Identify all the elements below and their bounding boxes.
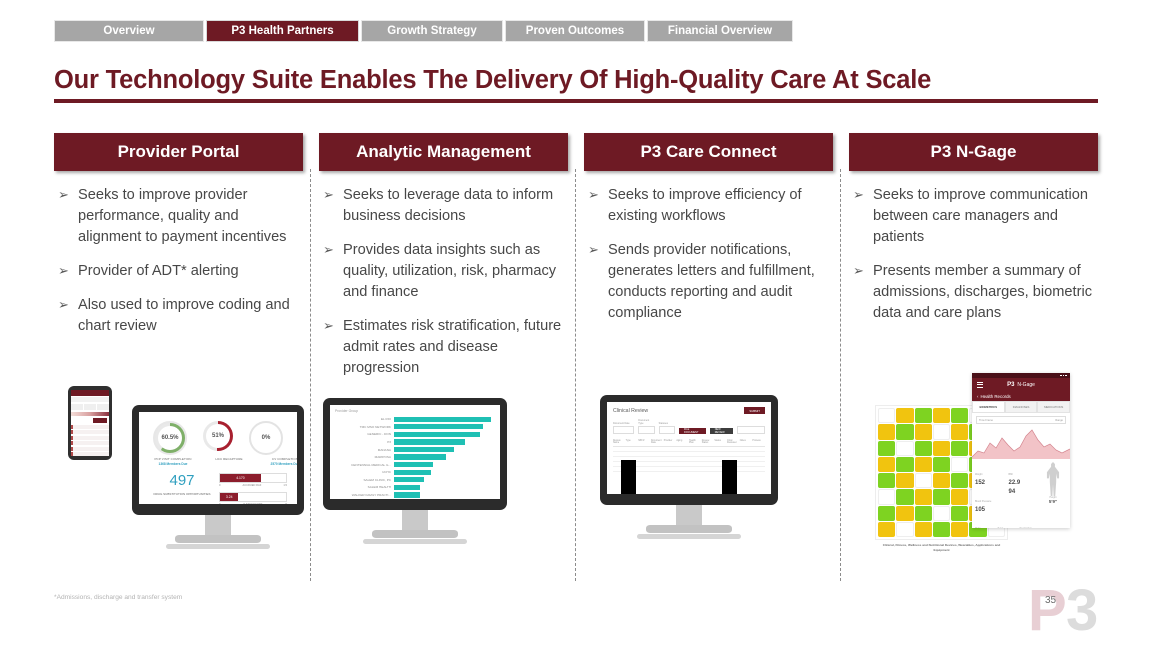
human-body-icon	[1045, 462, 1061, 496]
arrow-bullet-icon: ➢	[851, 185, 873, 248]
device-icon	[878, 473, 895, 488]
chart-bar-row: MARIPOSA	[335, 454, 495, 460]
list-item	[71, 441, 109, 445]
device-icon	[915, 424, 932, 439]
phone-screen	[71, 390, 109, 456]
chart-category-label: SALEM HEALTH	[335, 485, 394, 489]
chart-category-label: GENERIC - DON	[335, 432, 394, 436]
signal-icon	[1060, 375, 1062, 377]
filter-statuses[interactable]: Statuses	[659, 422, 675, 434]
kpi-ring-pcp-visit: 60.5%	[153, 421, 187, 455]
logo-digit-3: 3	[1066, 584, 1098, 638]
care-connect-monitor-mockup: Clinical Review SUBMIT Document Date	[600, 395, 778, 539]
device-icon	[896, 441, 913, 456]
nav-tab-growth-strategy[interactable]: Growth Strategy	[361, 20, 503, 42]
phone-gradient-bar	[71, 412, 109, 416]
chart-category-label: MARIPOSA	[335, 455, 394, 459]
section-nav: Overview P3 Health Partners Growth Strat…	[54, 20, 793, 42]
chart-bar	[394, 470, 431, 475]
device-icon	[951, 424, 968, 439]
table-column-header[interactable]: Review Status	[702, 440, 715, 444]
bullet-text: Seeks to improve communication between c…	[873, 185, 1094, 248]
monitor-base	[372, 530, 458, 538]
axis-min: 0	[219, 484, 220, 487]
progress-bar-fill: 4.170	[220, 474, 261, 482]
device-icon	[951, 489, 968, 504]
monitor-frame: 60.5% 51% 0%	[132, 405, 304, 549]
device-icon	[878, 408, 895, 423]
filter-label: Document Date	[613, 422, 634, 425]
chart-bar	[394, 454, 446, 459]
metric-value: 105	[975, 507, 1006, 514]
chart-bar-row: GENERIC - DON	[335, 431, 495, 437]
redaction-block	[621, 460, 636, 494]
chart-bar-row: EL RIO	[335, 416, 495, 422]
device-icon	[933, 522, 950, 537]
filter-select[interactable]	[638, 426, 654, 434]
redaction-block	[722, 460, 737, 494]
p3-logo: P 3 35	[1018, 584, 1138, 638]
monitor-frame: Provider Group EL RIOTMC MSO NETWORKGENE…	[323, 398, 507, 544]
body-figure-group: Height 5'9"	[1039, 462, 1067, 528]
device-icon	[951, 506, 968, 521]
device-icon	[896, 522, 913, 537]
nav-tab-proven-outcomes[interactable]: Proven Outcomes	[505, 20, 645, 42]
table-column-header[interactable]: MBI #	[638, 440, 651, 444]
kpi-label: CV COMPLETION	[257, 457, 297, 461]
table-column-header[interactable]: Process	[752, 440, 765, 444]
provider-portal-phone-mockup	[68, 386, 112, 460]
metric-key: Blood Pressure	[975, 500, 991, 503]
monitor-neck	[676, 505, 702, 525]
device-icon	[933, 506, 950, 521]
time-frame-label: Time Frame	[979, 419, 993, 422]
arrow-bullet-icon: ➢	[321, 240, 343, 303]
chart-category-label: P3	[335, 440, 394, 444]
device-icon	[933, 408, 950, 423]
arrow-bullet-icon: ➢	[321, 185, 343, 227]
progress-bar-5-star-score: 3.24	[219, 492, 287, 502]
hamburger-menu-icon[interactable]	[977, 382, 983, 389]
device-icon	[915, 489, 932, 504]
kpi-ring-value: 51%	[206, 424, 230, 448]
biometric-area-chart	[972, 427, 1070, 459]
brand-logo: P3	[1007, 382, 1014, 388]
chart-bar	[394, 462, 433, 467]
arrow-bullet-icon: ➢	[56, 185, 78, 248]
device-icon	[896, 408, 913, 423]
chart-bar	[394, 447, 454, 452]
metric-row: Pulse 77 Temp 98.6 Respiration 16	[975, 516, 1039, 528]
chart-bar	[394, 432, 480, 437]
monitor-bezel: Clinical Review SUBMIT Document Date	[600, 395, 778, 505]
list-item	[71, 436, 109, 440]
chart-bar	[394, 485, 420, 490]
wifi-icon	[1063, 375, 1065, 377]
kpi-label: HCC RECAPTURE	[201, 457, 257, 461]
metric-value: 22.9	[1009, 480, 1040, 487]
device-icon	[933, 473, 950, 488]
table-column-header[interactable]: Type	[626, 440, 639, 444]
big-metric-value: 497	[145, 473, 219, 489]
kpi-label-group: CV COMPLETION 2570 Members Due	[257, 457, 297, 466]
n-gage-mockup: Clinical, Fitness, Wellness and Nutritio…	[875, 373, 1075, 563]
table-column-header[interactable]: Provider	[664, 440, 677, 444]
device-icon	[896, 506, 913, 521]
analytic-management-monitor-mockup: Provider Group EL RIOTMC MSO NETWORKGENE…	[323, 398, 507, 544]
arrow-bullet-icon: ➢	[321, 316, 343, 379]
column-analytic-management: Analytic Management ➢ Seeks to leverage …	[319, 133, 568, 563]
screen-toolbar: Clinical Review SUBMIT	[613, 407, 765, 414]
chart-bar-row: SALEM HEALTH	[335, 484, 495, 490]
dashboard-lower: 497 DRUG SUBSTITUTION OPPORTUNITIES 4.17…	[145, 473, 291, 504]
device-icon	[915, 457, 932, 472]
arrow-bullet-icon: ➢	[851, 261, 873, 324]
device-icon	[933, 489, 950, 504]
filter-document-type[interactable]: Document Type	[638, 419, 654, 434]
filter-select[interactable]	[613, 426, 634, 434]
device-icon	[951, 522, 968, 537]
device-icon	[878, 489, 895, 504]
device-icon	[878, 522, 895, 537]
bullet-text: Presents member a summary of admissions,…	[873, 261, 1094, 324]
monitor-base	[175, 535, 261, 543]
chart-bar	[394, 417, 491, 422]
columns-container: Provider Portal ➢ Seeks to improve provi…	[54, 133, 1100, 563]
list-item	[71, 447, 109, 451]
bullet-list-care-connect: ➢ Seeks to improve efficiency of existin…	[584, 185, 833, 324]
progress-axis: 0 5-STAR SCORE 5	[219, 503, 287, 504]
kpi-label-group: HCC RECAPTURE	[201, 457, 257, 466]
tab-medications[interactable]: MEDICATIONS	[1037, 401, 1070, 413]
list-item: ➢ Seeks to improve efficiency of existin…	[586, 185, 829, 227]
table-column-header[interactable]: Aging	[676, 440, 689, 444]
app-header: P3 N-Gage	[972, 378, 1070, 392]
footnote: *Admissions, discharge and transfer syst…	[54, 594, 182, 601]
dashboard-body: 60.5% 51% 0%	[139, 412, 297, 504]
bullet-text: Estimates risk stratification, future ad…	[343, 316, 564, 379]
filter-label: Statuses	[659, 422, 675, 425]
device-icon	[896, 473, 913, 488]
device-icon	[951, 473, 968, 488]
metric-blood-pressure-diastolic: 94	[1009, 489, 1040, 514]
area-chart-svg	[972, 427, 1070, 459]
metric-key: Respiration	[1020, 527, 1032, 528]
list-item	[71, 425, 109, 429]
chart-bar	[394, 439, 465, 444]
time-frame-selector[interactable]: Time Frame Range	[976, 416, 1066, 424]
kpi-sublabel[interactable]: 1368 Members Due	[145, 462, 201, 466]
device-icon	[933, 424, 950, 439]
table-column-header[interactable]: Document Date	[651, 440, 664, 444]
progress-bar-fill: 3.24	[220, 493, 238, 501]
progress-bars: 4.170 0 ACCRUED RAF 1.5 3.24	[219, 473, 291, 504]
column-divider	[575, 169, 576, 581]
submit-button[interactable]: SUBMIT	[744, 407, 765, 414]
phone-app-bar	[71, 390, 109, 396]
column-n-gage: P3 N-Gage ➢ Seeks to improve communicati…	[849, 133, 1098, 563]
list-item: ➢ Seeks to improve communication between…	[851, 185, 1094, 248]
metric-key: Weight	[975, 473, 982, 476]
bullet-text: Provider of ADT* alerting	[78, 261, 239, 282]
filter-row: Document Date Document Type Statuses	[613, 419, 765, 434]
app-name: N-Gage	[1017, 382, 1035, 388]
time-frame-value: Range	[1055, 419, 1063, 422]
title-underline	[54, 99, 1098, 103]
progress-label: 5-STAR SCORE	[244, 503, 263, 504]
monitor-bezel: 60.5% 51% 0%	[132, 405, 304, 515]
big-metric-label: DRUG SUBSTITUTION OPPORTUNITIES	[145, 492, 219, 496]
card-header-n-gage: P3 N-Gage	[849, 133, 1098, 171]
device-icon	[915, 408, 932, 423]
page-title: Our Technology Suite Enables The Deliver…	[54, 66, 931, 95]
phone-chip	[71, 404, 83, 410]
slide: Overview P3 Health Partners Growth Strat…	[0, 0, 1152, 648]
clinical-review-screen: Clinical Review SUBMIT Document Date	[607, 402, 771, 494]
table-column-header[interactable]: Status	[714, 440, 727, 444]
analytics-bar-chart: Provider Group EL RIOTMC MSO NETWORKGENE…	[330, 405, 500, 499]
progress-bar-accrued-raf: 4.170	[219, 473, 287, 483]
kpi-ring-cv-completion: 0%	[249, 421, 283, 455]
page-title: Health Records	[980, 394, 1010, 399]
phone-chip	[84, 404, 96, 410]
axis-min: 0	[219, 503, 220, 504]
bullet-text: Provides data insights such as quality, …	[343, 240, 564, 303]
monitor-bezel: Provider Group EL RIOTMC MSO NETWORKGENE…	[323, 398, 507, 510]
chart-bar-row: MANANA	[335, 446, 495, 452]
page-number: 35	[1045, 595, 1056, 606]
chart-bar-row: P3	[335, 439, 495, 445]
list-item: ➢ Seeks to leverage data to inform busin…	[321, 185, 564, 227]
bullet-list-n-gage: ➢ Seeks to improve communication between…	[849, 185, 1098, 324]
n-gage-phone: P3 N-Gage ‹ Health Records BIOMETRICS DI…	[972, 373, 1070, 528]
search-input[interactable]	[737, 426, 765, 434]
chart-body: Provider Group EL RIOTMC MSO NETWORKGENE…	[330, 405, 500, 499]
device-icon	[951, 408, 968, 423]
chart-bar	[394, 477, 424, 482]
metric-respiration: Respiration 16	[1020, 516, 1039, 528]
table-column-header[interactable]: Notes	[740, 440, 753, 444]
device-icon	[878, 441, 895, 456]
bullet-text: Sends provider notifications, generates …	[608, 240, 829, 324]
filter-select[interactable]	[659, 426, 675, 434]
screen-title: Clinical Review	[613, 408, 648, 414]
phone-frame	[68, 386, 112, 460]
device-icon	[915, 522, 932, 537]
metric-columns: Weight 152 BMI 22.9 Blood Pres	[975, 462, 1039, 528]
metric-row: Blood Pressure 105 94	[975, 489, 1039, 514]
chart-category-label: EL RIO	[335, 417, 394, 421]
list-item	[71, 452, 109, 456]
device-icon	[951, 457, 968, 472]
monitor-base-shadow	[166, 544, 270, 549]
table-column-header[interactable]: Review Name	[613, 440, 626, 444]
chart-bar	[394, 492, 420, 497]
progress-axis: 0 ACCRUED RAF 1.5	[219, 484, 287, 487]
phone-subheader	[71, 397, 109, 402]
device-icon	[878, 457, 895, 472]
biometric-metrics: Weight 152 BMI 22.9 Blood Pres	[972, 459, 1070, 528]
monitor-base-shadow	[363, 539, 467, 544]
device-icon	[933, 441, 950, 456]
search-field-group[interactable]	[737, 426, 765, 434]
chart-bar-row: WALKER FAMILY PRACTI...	[335, 492, 495, 498]
arrow-bullet-icon: ➢	[586, 185, 608, 227]
chart-category-label: MANANA	[335, 448, 394, 452]
chart-category-label: CENTENNIAL MEDICAL G...	[335, 463, 394, 467]
file-document-button[interactable]: FILE DOCUMENT	[679, 428, 706, 434]
big-metric-group: 497 DRUG SUBSTITUTION OPPORTUNITIES	[145, 473, 219, 496]
kpi-label-row: PCP VISIT COMPLETION 1368 Members Due HC…	[145, 457, 291, 466]
device-icon	[896, 424, 913, 439]
device-icon	[933, 457, 950, 472]
filter-document-date[interactable]: Document Date	[613, 422, 634, 434]
logo-letter-p: P	[1028, 584, 1067, 638]
kpi-label: PCP VISIT COMPLETION	[145, 457, 201, 461]
list-item: ➢ Sends provider notifications, generate…	[586, 240, 829, 324]
bullet-text: Seeks to improve efficiency of existing …	[608, 185, 829, 227]
device-icon	[878, 424, 895, 439]
chart-category-label: SALEM CLINIC, PC	[335, 478, 394, 482]
clinical-review-body: Clinical Review SUBMIT Document Date	[607, 402, 771, 494]
arrow-bullet-icon: ➢	[56, 295, 78, 337]
progress-label: ACCRUED RAF	[243, 484, 262, 487]
phone-stat-chips	[71, 404, 109, 410]
provider-portal-monitor-mockup: 60.5% 51% 0%	[132, 405, 304, 549]
chart-category-label: WALKER FAMILY PRACTI...	[335, 493, 394, 497]
device-icon	[896, 457, 913, 472]
table-column-header[interactable]: Clinic Reviewer	[727, 440, 740, 444]
column-provider-portal: Provider Portal ➢ Seeks to improve provi…	[54, 133, 303, 563]
chart-bar-rows: EL RIOTMC MSO NETWORKGENERIC - DONP3MANA…	[335, 416, 495, 498]
device-icon	[951, 441, 968, 456]
metric-key: Temp	[997, 527, 1003, 528]
device-icon	[878, 506, 895, 521]
metric-temp: Temp 98.6	[997, 516, 1016, 528]
list-item: ➢ Also used to improve coding and chart …	[56, 295, 299, 337]
tab-bar: BIOMETRICS DIAGNOSES MEDICATIONS	[972, 401, 1070, 413]
metric-pulse: Pulse 77	[975, 516, 994, 528]
list-item: ➢ Presents member a summary of admission…	[851, 261, 1094, 324]
metric-key: Pulse	[975, 527, 981, 528]
column-divider	[840, 169, 841, 581]
tab-biometrics[interactable]: BIOMETRICS	[972, 401, 1005, 413]
bullet-list-analytic-management: ➢ Seeks to leverage data to inform busin…	[319, 185, 568, 379]
bullet-text: Seeks to improve provider performance, q…	[78, 185, 299, 248]
card-header-provider-portal: Provider Portal	[54, 133, 303, 171]
nav-tab-p3-health-partners[interactable]: P3 Health Partners	[206, 20, 359, 42]
kpi-label-group: PCP VISIT COMPLETION 1368 Members Due	[145, 457, 201, 466]
phone-chip	[97, 404, 109, 410]
arrow-bullet-icon: ➢	[56, 261, 78, 282]
monitor-neck	[402, 510, 428, 530]
phone-action-button[interactable]	[93, 418, 107, 423]
kpi-ring-value: 0%	[254, 426, 278, 450]
axis-max: 5	[286, 503, 287, 504]
monitor-frame: Clinical Review SUBMIT Document Date	[600, 395, 778, 539]
provider-portal-dashboard: 60.5% 51% 0%	[139, 412, 297, 504]
kpi-ring-row: 60.5% 51% 0%	[145, 421, 291, 455]
list-item: ➢ Provides data insights such as quality…	[321, 240, 564, 303]
monitor-neck	[205, 515, 231, 535]
table-column-header[interactable]: Health Plan	[689, 440, 702, 444]
bullet-text: Seeks to leverage data to inform busines…	[343, 185, 564, 227]
list-item: ➢ Estimates risk stratification, future …	[321, 316, 564, 379]
metric-value: 152	[975, 480, 1006, 487]
monitor-base-shadow	[637, 534, 741, 539]
battery-icon	[1065, 375, 1067, 377]
bullet-text: Also used to improve coding and chart re…	[78, 295, 299, 337]
nav-tab-overview[interactable]: Overview	[54, 20, 204, 42]
list-item: ➢ Seeks to improve provider performance,…	[56, 185, 299, 248]
device-icon	[915, 506, 932, 521]
metric-row: Weight 152 BMI 22.9	[975, 462, 1039, 487]
new-review-button[interactable]: NEW REVIEW	[710, 428, 733, 434]
card-header-care-connect: P3 Care Connect	[584, 133, 833, 171]
chart-bar-row: TMC MSO NETWORK	[335, 424, 495, 430]
axis-max: 1.5	[283, 484, 287, 487]
nav-tab-financial-overview[interactable]: Financial Overview	[647, 20, 793, 42]
metric-bmi: BMI 22.9	[1009, 462, 1040, 487]
device-icon	[896, 489, 913, 504]
chart-bar	[394, 424, 483, 429]
filter-label: Document Type	[638, 419, 654, 425]
device-icon	[915, 473, 932, 488]
chart-category-label: UCHC	[335, 470, 394, 474]
device-icon	[915, 441, 932, 456]
kpi-sublabel[interactable]: 2570 Members Due	[257, 462, 297, 466]
device-grid-caption: Clinical, Fitness, Wellness and Nutritio…	[875, 543, 1008, 552]
chart-title: Provider Group	[335, 409, 495, 413]
column-divider	[310, 169, 311, 581]
chart-bar-row: UCHC	[335, 469, 495, 475]
arrow-bullet-icon: ➢	[586, 240, 608, 324]
chart-category-label: TMC MSO NETWORK	[335, 425, 394, 429]
kpi-ring-value: 60.5%	[158, 426, 182, 450]
card-header-analytic-management: Analytic Management	[319, 133, 568, 171]
chart-bar-row: CENTENNIAL MEDICAL G...	[335, 461, 495, 467]
metric-blood-pressure: Blood Pressure 105	[975, 489, 1006, 514]
metric-weight: Weight 152	[975, 462, 1006, 487]
list-item: ➢ Provider of ADT* alerting	[56, 261, 299, 282]
back-chevron-icon[interactable]: ‹	[977, 394, 978, 399]
monitor-base	[646, 525, 732, 533]
list-item	[71, 430, 109, 434]
bullet-list-provider-portal: ➢ Seeks to improve provider performance,…	[54, 185, 303, 337]
metric-value: 5'9"	[1039, 499, 1067, 504]
tab-diagnoses[interactable]: DIAGNOSES	[1005, 401, 1038, 413]
kpi-ring-hcc-recapture: 51%	[203, 421, 233, 451]
metric-key: BMI	[1009, 473, 1013, 476]
metric-value: 94	[1009, 489, 1040, 496]
page-header: ‹ Health Records	[972, 392, 1070, 401]
column-care-connect: P3 Care Connect ➢ Seeks to improve effic…	[584, 133, 833, 563]
chart-bar-row: SALEM CLINIC, PC	[335, 477, 495, 483]
